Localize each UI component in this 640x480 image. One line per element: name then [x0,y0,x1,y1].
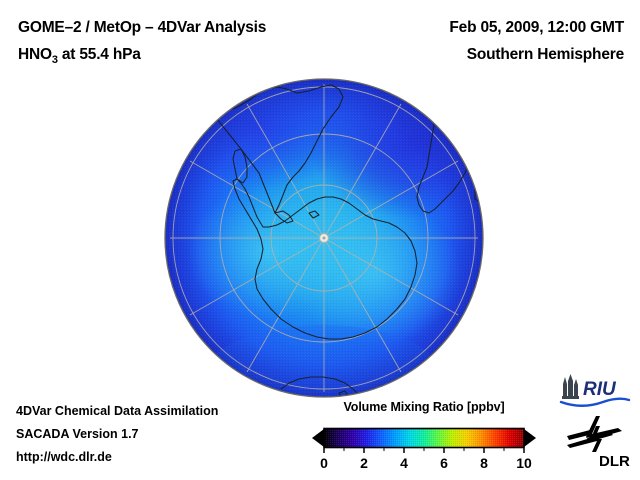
colorbar: Volume Mixing Ratio [ppbv] [310,400,538,472]
colorbar-tick-3: 6 [440,455,448,471]
colorbar-tick-4: 8 [480,455,488,471]
credit-line-version: SACADA Version 1.7 [16,423,306,446]
globe-map [163,77,485,399]
header-right: Feb 05, 2009, 12:00 GMT Southern Hemisph… [324,14,624,68]
colorbar-svg: 0 2 4 6 8 10 [310,420,538,472]
riu-towers-icon [562,374,579,399]
species-formula: HNO [18,46,52,63]
credit-line-url[interactable]: http://wdc.dlr.de [16,446,306,469]
globe-svg [163,77,485,399]
riu-logo: RIU [557,374,633,408]
region-label: Southern Hemisphere [324,41,624,68]
dlr-emblem-icon [567,416,622,456]
timestamp-label: Feb 05, 2009, 12:00 GMT [324,14,624,41]
colorbar-tick-5: 10 [516,455,532,471]
footer-credits: 4DVar Chemical Data Assimilation SACADA … [16,400,306,469]
colorbar-over-arrow [524,429,536,447]
colorbar-under-arrow [312,429,324,447]
riu-wordmark: RIU [583,379,617,400]
colorbar-tick-0: 0 [320,455,328,471]
colorbar-tick-2: 4 [400,455,408,471]
colorbar-tick-labels: 0 2 4 6 8 10 [320,455,532,471]
colorbar-title: Volume Mixing Ratio [ppbv] [310,400,538,414]
credit-line-assimilation: 4DVar Chemical Data Assimilation [16,400,306,423]
pressure-level: at 55.4 hPa [58,46,141,63]
colorbar-dither [324,429,524,448]
south-pole-marker [320,234,328,242]
colorbar-tick-1: 2 [360,455,368,471]
dlr-wordmark: DLR [599,453,630,470]
coastline-new-zealand-south [225,373,239,385]
dlr-logo: DLR [566,414,634,470]
